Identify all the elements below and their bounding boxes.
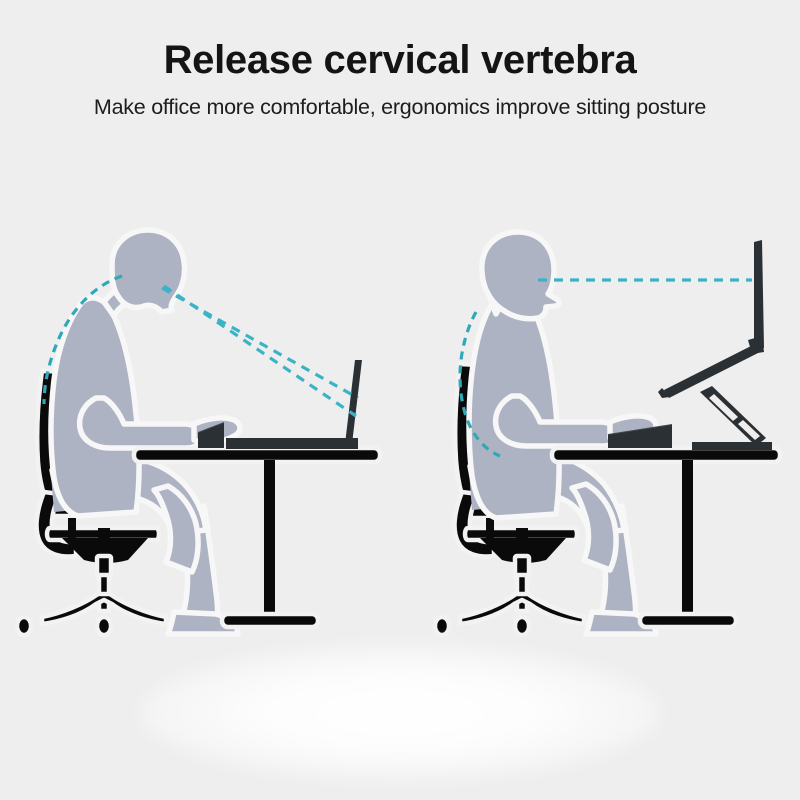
chair-castor-mid-2: [515, 617, 529, 635]
sight-line-down-upper: [162, 288, 358, 398]
desk-foot-2: [640, 614, 736, 627]
header: Release cervical vertebra Make office mo…: [0, 0, 800, 121]
chair-height-lever-2: [486, 518, 494, 544]
desk-top-2: [552, 448, 780, 462]
laptop-screen: [345, 360, 362, 444]
desk-foot: [222, 614, 318, 627]
desk-post-2: [682, 460, 693, 618]
desk-top: [134, 448, 380, 462]
person-arm: [80, 398, 200, 448]
chair-seat-post-2: [516, 528, 528, 546]
desk-post: [264, 460, 275, 618]
chair-castor-left: [17, 617, 31, 635]
chair-castor-left-2: [435, 617, 449, 635]
chair-castor-mid: [97, 617, 111, 635]
page-subtitle: Make office more comfortable, ergonomics…: [0, 83, 800, 121]
person-head-2: [482, 232, 559, 319]
chair-seat-post: [98, 528, 110, 546]
stand-base: [692, 442, 772, 450]
chair-height-lever: [68, 518, 76, 544]
laptop-screen-raised: [754, 240, 764, 350]
poster-root: Release cervical vertebra Make office mo…: [0, 0, 800, 800]
laptop-base: [226, 438, 358, 449]
laptop-elevated: [658, 240, 772, 450]
person-head: [112, 230, 185, 312]
page-title: Release cervical vertebra: [0, 0, 800, 83]
scene-bad-posture: [17, 230, 380, 635]
scene-good-posture: [435, 232, 780, 635]
